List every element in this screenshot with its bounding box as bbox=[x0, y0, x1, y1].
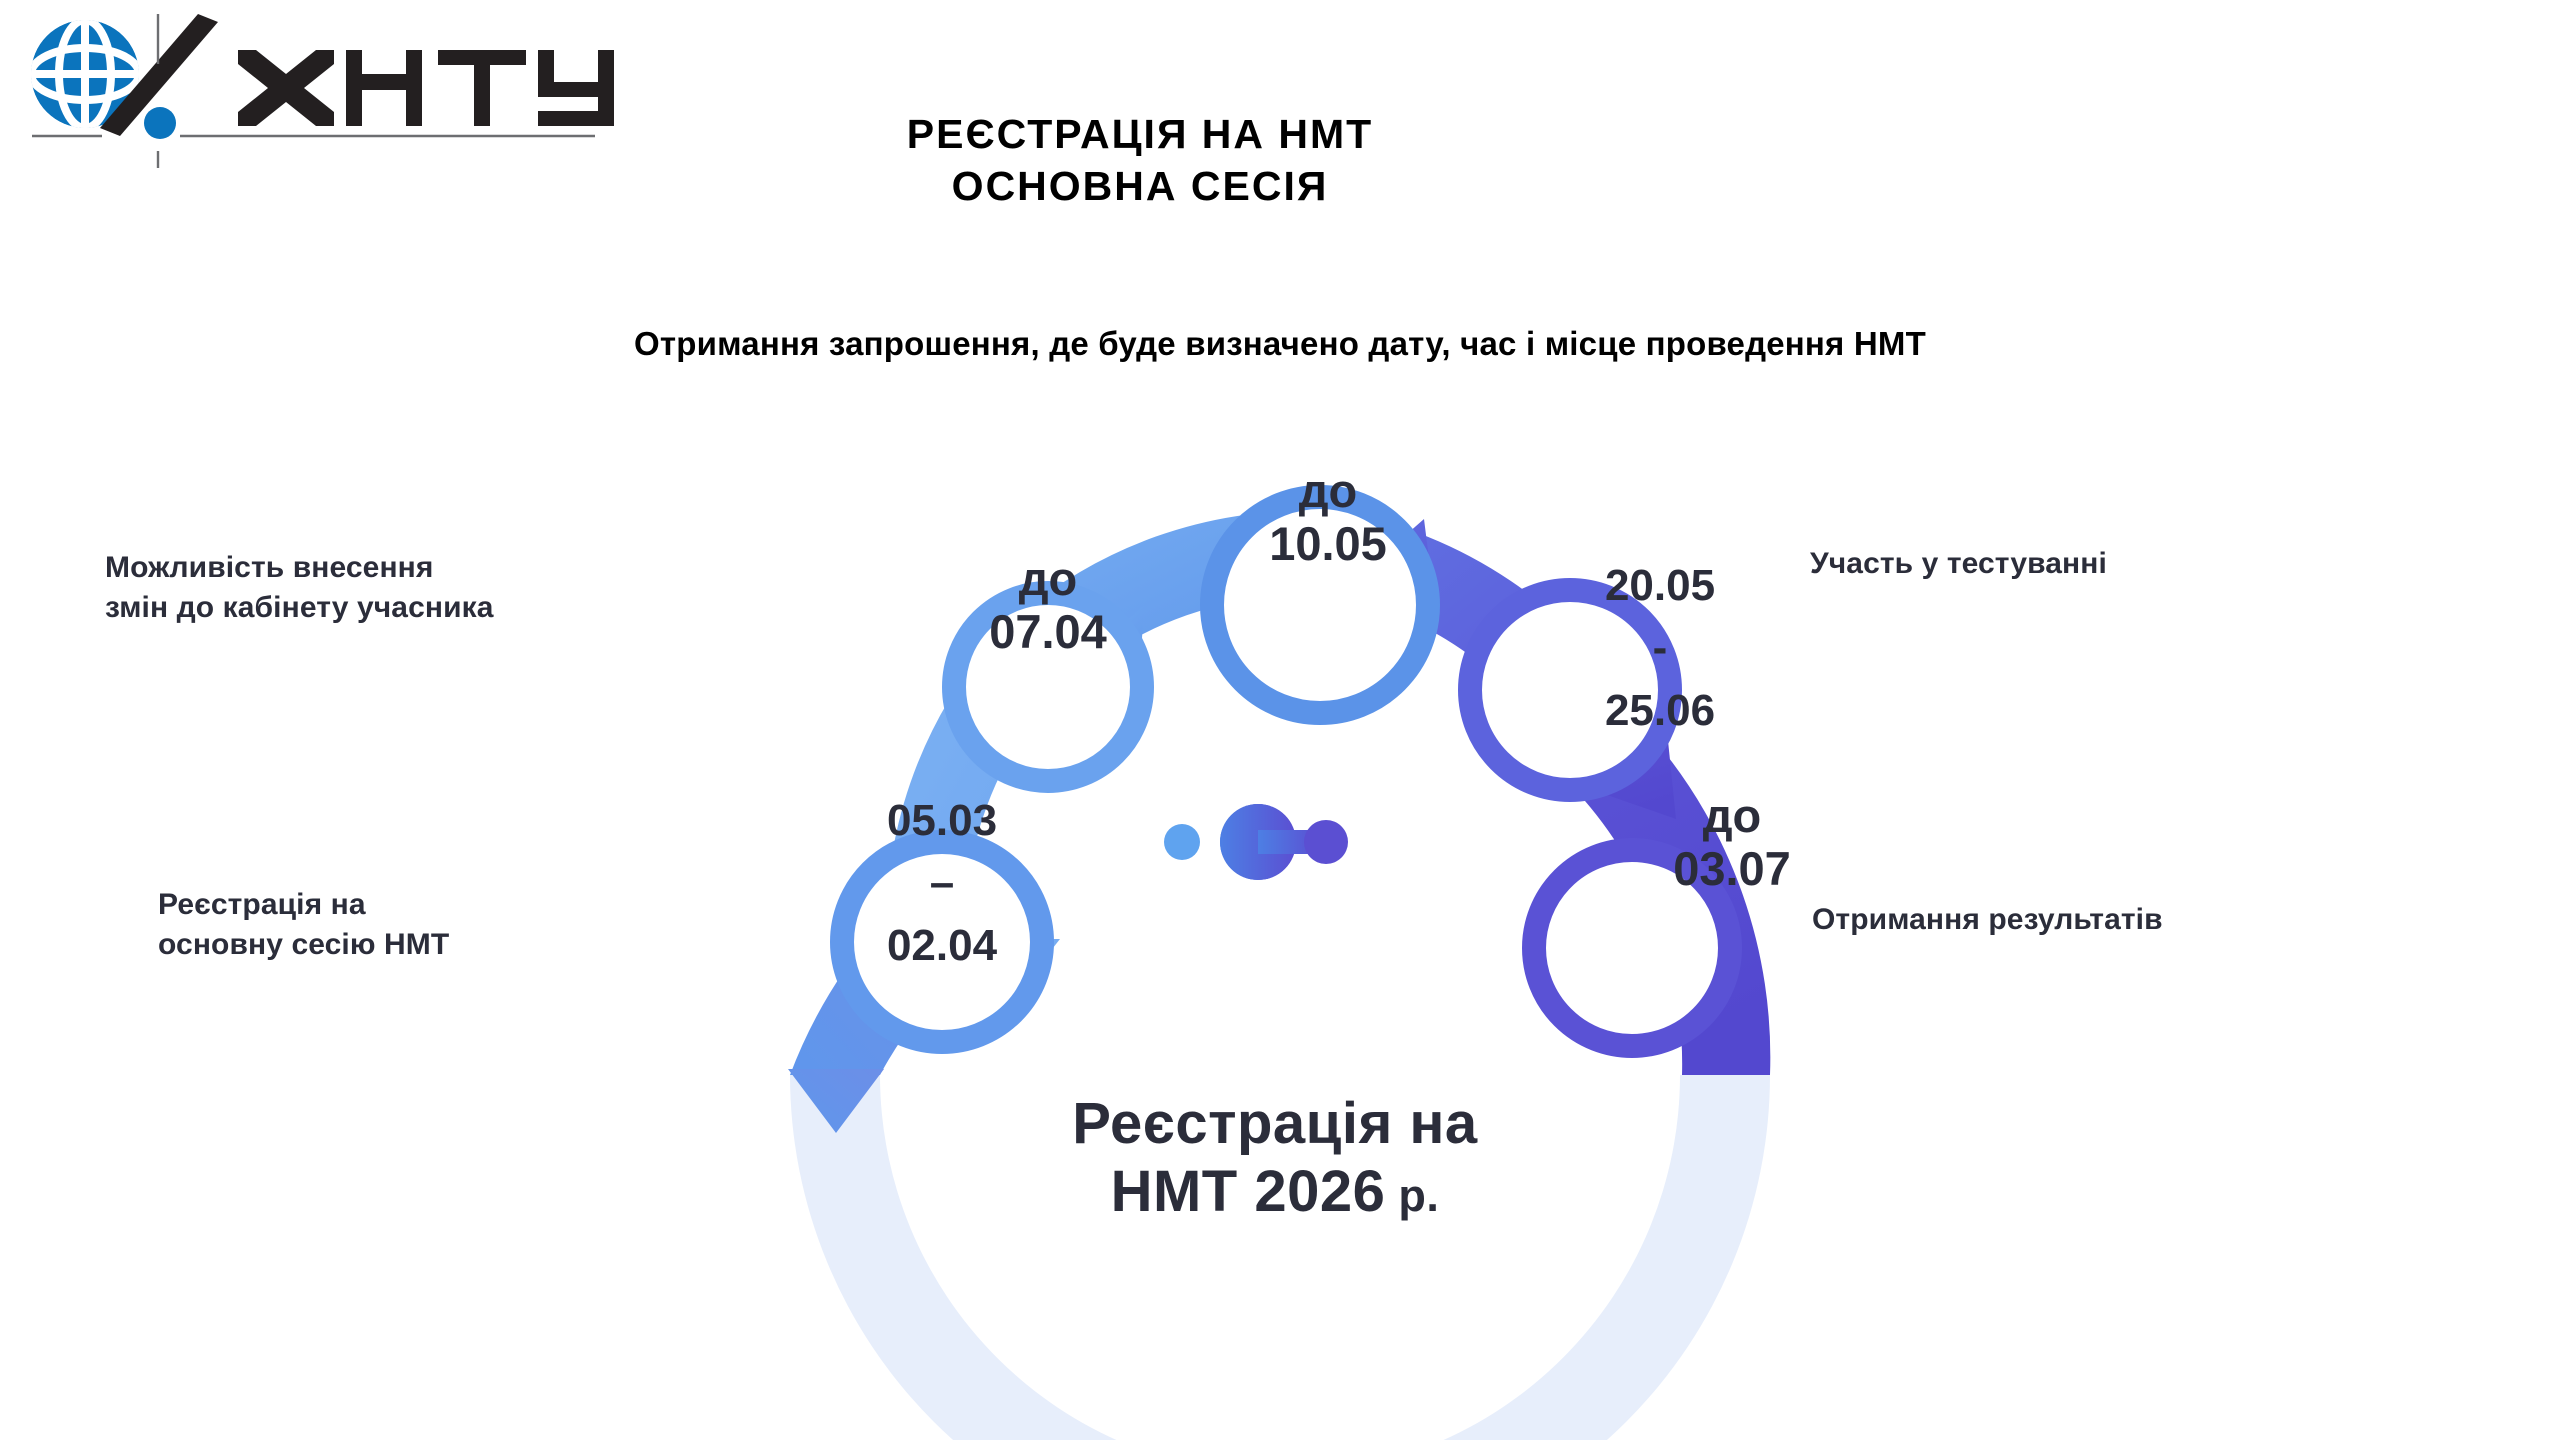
caption-register: Реєстрація на основну сесію НМТ bbox=[158, 885, 778, 965]
node-ring-top[interactable] bbox=[1212, 497, 1428, 713]
caption-changes-line-2: змін до кабінету учасника bbox=[105, 588, 795, 628]
node-ring-left[interactable] bbox=[842, 842, 1042, 1042]
title-line-1: РЕЄСТРАЦІЯ НА НМТ bbox=[640, 108, 1640, 160]
center-accent-dots bbox=[1164, 804, 1348, 880]
node-ring-right[interactable] bbox=[1534, 850, 1730, 1046]
caption-results: Отримання результатів bbox=[1812, 900, 2472, 940]
logo-dot bbox=[144, 107, 176, 139]
caption-testing-line-1: Участь у тестуванні bbox=[1810, 544, 2450, 584]
node-ring-upper-right[interactable] bbox=[1470, 590, 1670, 790]
logo-wordmark bbox=[238, 50, 614, 126]
slide-subtitle: Отримання запрошення, де буде визначено … bbox=[300, 325, 2260, 363]
center-title-suffix: р. bbox=[1385, 1170, 1439, 1221]
center-title-line-1: Реєстрація на bbox=[905, 1090, 1645, 1158]
center-title-line-2: НМТ 2026 р. bbox=[905, 1158, 1645, 1226]
cycle-center-title: Реєстрація на НМТ 2026 р. bbox=[905, 1090, 1645, 1227]
caption-changes: Можливість внесення змін до кабінету уча… bbox=[105, 548, 795, 628]
title-line-2: ОСНОВНА СЕСІЯ bbox=[640, 160, 1640, 212]
center-title-main: НМТ 2026 bbox=[1111, 1159, 1386, 1224]
caption-testing: Участь у тестуванні bbox=[1810, 544, 2450, 584]
caption-register-line-2: основну сесію НМТ bbox=[158, 925, 778, 965]
slide-title: РЕЄСТРАЦІЯ НА НМТ ОСНОВНА СЕСІЯ bbox=[640, 108, 1640, 213]
caption-register-line-1: Реєстрація на bbox=[158, 885, 778, 925]
cycle-diagram-svg bbox=[760, 415, 1800, 1415]
slide-canvas: РЕЄСТРАЦІЯ НА НМТ ОСНОВНА СЕСІЯ Отриманн… bbox=[0, 0, 2560, 1440]
caption-results-line-1: Отримання результатів bbox=[1812, 900, 2472, 940]
node-ring-upper-left[interactable] bbox=[954, 593, 1142, 781]
cycle-diagram bbox=[760, 415, 1800, 1415]
logo-artwork bbox=[10, 8, 630, 168]
university-logo bbox=[10, 8, 630, 168]
caption-changes-line-1: Можливість внесення bbox=[105, 548, 795, 588]
